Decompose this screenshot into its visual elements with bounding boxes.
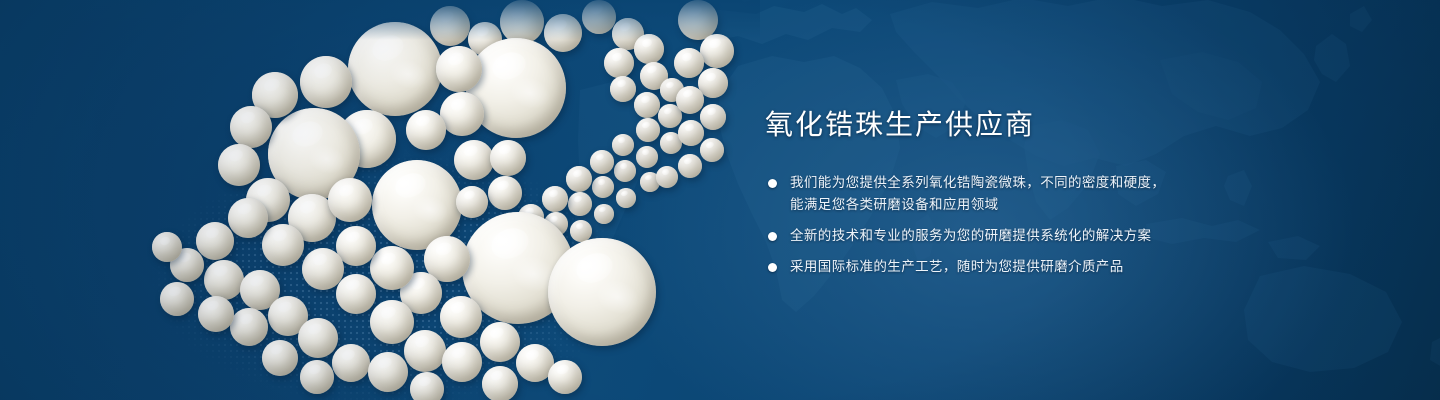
banner-headline: 氧化锆珠生产供应商 xyxy=(765,108,1385,142)
list-item: 全新的技术和专业的服务为您的研磨提供系统化的解决方案 xyxy=(765,225,1385,247)
list-item: 采用国际标准的生产工艺，随时为您提供研磨介质产品 xyxy=(765,256,1385,278)
list-item: 我们能为您提供全系列氧化锆陶瓷微珠，不同的密度和硬度， 能满足您各类研磨设备和应… xyxy=(765,172,1385,216)
bullet-dot-icon xyxy=(768,263,777,272)
feature-text-line-1: 我们能为您提供全系列氧化锆陶瓷微珠，不同的密度和硬度， xyxy=(790,175,1165,190)
feature-text-line-2: 能满足您各类研磨设备和应用领域 xyxy=(790,194,1385,216)
banner-content: 氧化锆珠生产供应商 我们能为您提供全系列氧化锆陶瓷微珠，不同的密度和硬度， 能满… xyxy=(765,108,1385,278)
feature-text-line-1: 全新的技术和专业的服务为您的研磨提供系统化的解决方案 xyxy=(790,228,1151,243)
zirconia-beads-image xyxy=(0,0,760,400)
feature-list: 我们能为您提供全系列氧化锆陶瓷微珠，不同的密度和硬度， 能满足您各类研磨设备和应… xyxy=(765,172,1385,278)
hero-banner: 氧化锆珠生产供应商 我们能为您提供全系列氧化锆陶瓷微珠，不同的密度和硬度， 能满… xyxy=(0,0,1440,400)
feature-text-line-1: 采用国际标准的生产工艺，随时为您提供研磨介质产品 xyxy=(790,259,1124,274)
bullet-dot-icon xyxy=(768,179,777,188)
halftone-dot-texture xyxy=(60,150,680,400)
bullet-dot-icon xyxy=(768,232,777,241)
